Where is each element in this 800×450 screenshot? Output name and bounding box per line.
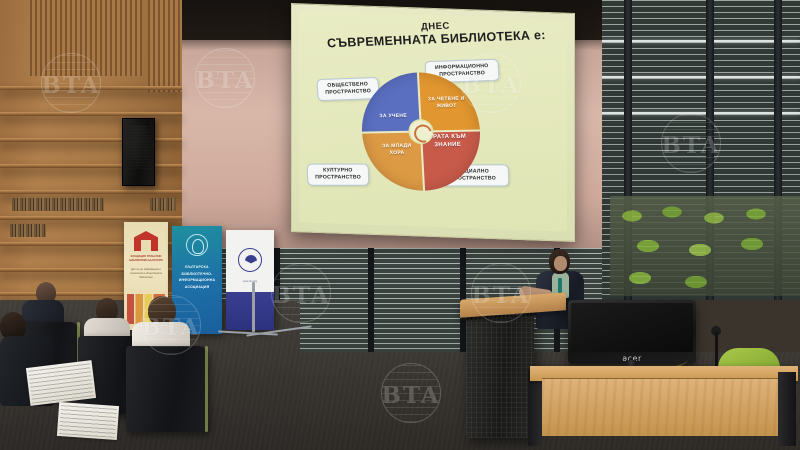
circular-emblem-icon [238,248,262,272]
microphone-stem [715,332,718,370]
pie-center-hub-icon [409,120,432,142]
bba-emblem-icon [186,234,208,256]
banner-heading: ФОНДАЦИЯ ГЛОБАЛНИ БИБЛИОТЕКИ БЪЛГАРИЯ [127,255,165,263]
pie-label-youth: ЗА МЛАДИ ХОРА [375,143,420,157]
audience-chair [126,346,208,432]
pie-chart: ЗА УЧЕНЕ ЗА ЧЕТЕНЕ И ЖИВОТ ЗА МЛАДИ ХОРА… [359,72,483,192]
wood-slat-panel [148,0,182,92]
wood-slat-panel [30,0,142,76]
banner-heading: БЪЛГАРСКА БИБЛИОТЕЧНО-ИНФОРМАЦИОННА АСОЦ… [175,264,219,291]
rollup-banner-third: www.nbu.bg [226,230,274,330]
slide-surface: ДНЕС СЪВРЕМЕННАТА БИБЛИОТЕКА е: ИНФОРМАЦ… [299,10,567,231]
photo-scene: ДНЕС СЪВРЕМЕННАТА БИБЛИОТЕКА е: ИНФОРМАЦ… [0,0,800,450]
lectern-body [466,310,534,438]
banner-subtext: Достъп до информация и технологии в обще… [127,268,165,280]
slide-title: ДНЕС СЪВРЕМЕННАТА БИБЛИОТЕКА е: [314,16,557,51]
desk-frame-left [528,370,542,446]
desk-frame-right [778,372,796,446]
banner-url: www.nbu.bg [226,280,274,283]
handout-papers [57,402,119,440]
callout-cultural-space: КУЛТУРНО ПРОСТРАНСТВО [307,164,370,186]
presenter-face [554,256,567,271]
pie-label-reading: ЗА ЧЕТЕНЕ И ЖИВОТ [422,96,471,110]
projection-screen: ДНЕС СЪВРЕМЕННАТА БИБЛИОТЕКА е: ИНФОРМАЦ… [291,3,575,242]
adjacent-hall-seating [610,196,800,296]
rollup-banner-bba: БЪЛГАРСКА БИБЛИОТЕЧНО-ИНФОРМАЦИОННА АСОЦ… [172,226,222,334]
library-house-icon [134,231,158,251]
desk-front-panel [542,378,786,436]
callout-text: КУЛТУРНО ПРОСТРАНСТВО [315,168,361,181]
wall-speaker [122,118,155,186]
banner-pole [252,282,255,332]
handout-papers [26,360,96,406]
pie-label-learning: ЗА УЧЕНЕ [371,113,415,120]
